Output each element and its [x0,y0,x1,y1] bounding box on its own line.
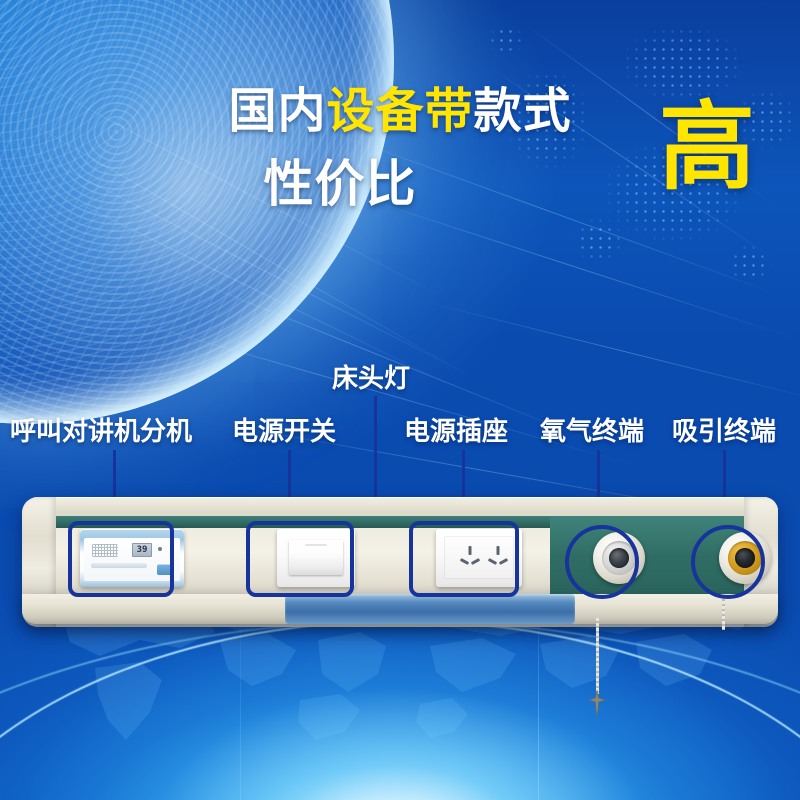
oxygen-pull-cord[interactable] [596,618,599,694]
intercom-call-button[interactable] [157,564,173,575]
socket-outlet-2[interactable] [486,546,510,572]
oxygen-port[interactable] [609,548,629,568]
callout-label-power-switch: 电源开关 [232,415,336,447]
socket-pin-left [488,558,497,565]
oxygen-terminal-device[interactable] [593,532,645,584]
socket-pin-vertical [469,546,472,555]
socket-pin-right [499,558,508,565]
intercom-faceplate: 39 [84,538,180,581]
callout-label-suction: 吸引终端 [672,415,776,447]
suction-port[interactable] [735,548,755,568]
power-socket-device[interactable] [436,529,522,587]
nurse-call-intercom[interactable]: 39 [80,529,184,587]
suction-pull-cord[interactable] [722,596,725,630]
callout-label-oxygen: 氧气终端 [540,415,644,447]
indicator-dot-icon [158,547,162,551]
bedside-lamp-diffuser [285,594,575,624]
socket-pin-vertical [497,546,500,555]
socket-pin-right [471,558,480,565]
callout-label-bedside-lamp: 床头灯 [332,362,410,394]
callout-label-power-socket: 电源插座 [404,415,508,447]
socket-faceplate [444,536,514,579]
suction-terminal-device[interactable] [719,532,771,584]
socket-outlet-1[interactable] [458,546,482,572]
power-switch-device[interactable] [277,529,355,587]
speaker-grille-icon [92,544,118,557]
intercom-label-bar [91,563,147,568]
callout-labels: 呼叫对讲机分机电源开关床头灯电源插座氧气终端吸引终端 [0,0,800,800]
rocker-switch[interactable] [289,540,343,575]
poster-stage: 国内设备带款式 性价比高 呼叫对讲机分机电源开关床头灯电源插座氧气终端吸引终端 … [0,0,800,800]
callout-label-intercom: 呼叫对讲机分机 [10,415,192,447]
cord-handle-icon[interactable] [588,690,606,721]
socket-pin-left [460,558,469,565]
socket-holes [444,546,514,572]
intercom-display: 39 [132,543,152,557]
